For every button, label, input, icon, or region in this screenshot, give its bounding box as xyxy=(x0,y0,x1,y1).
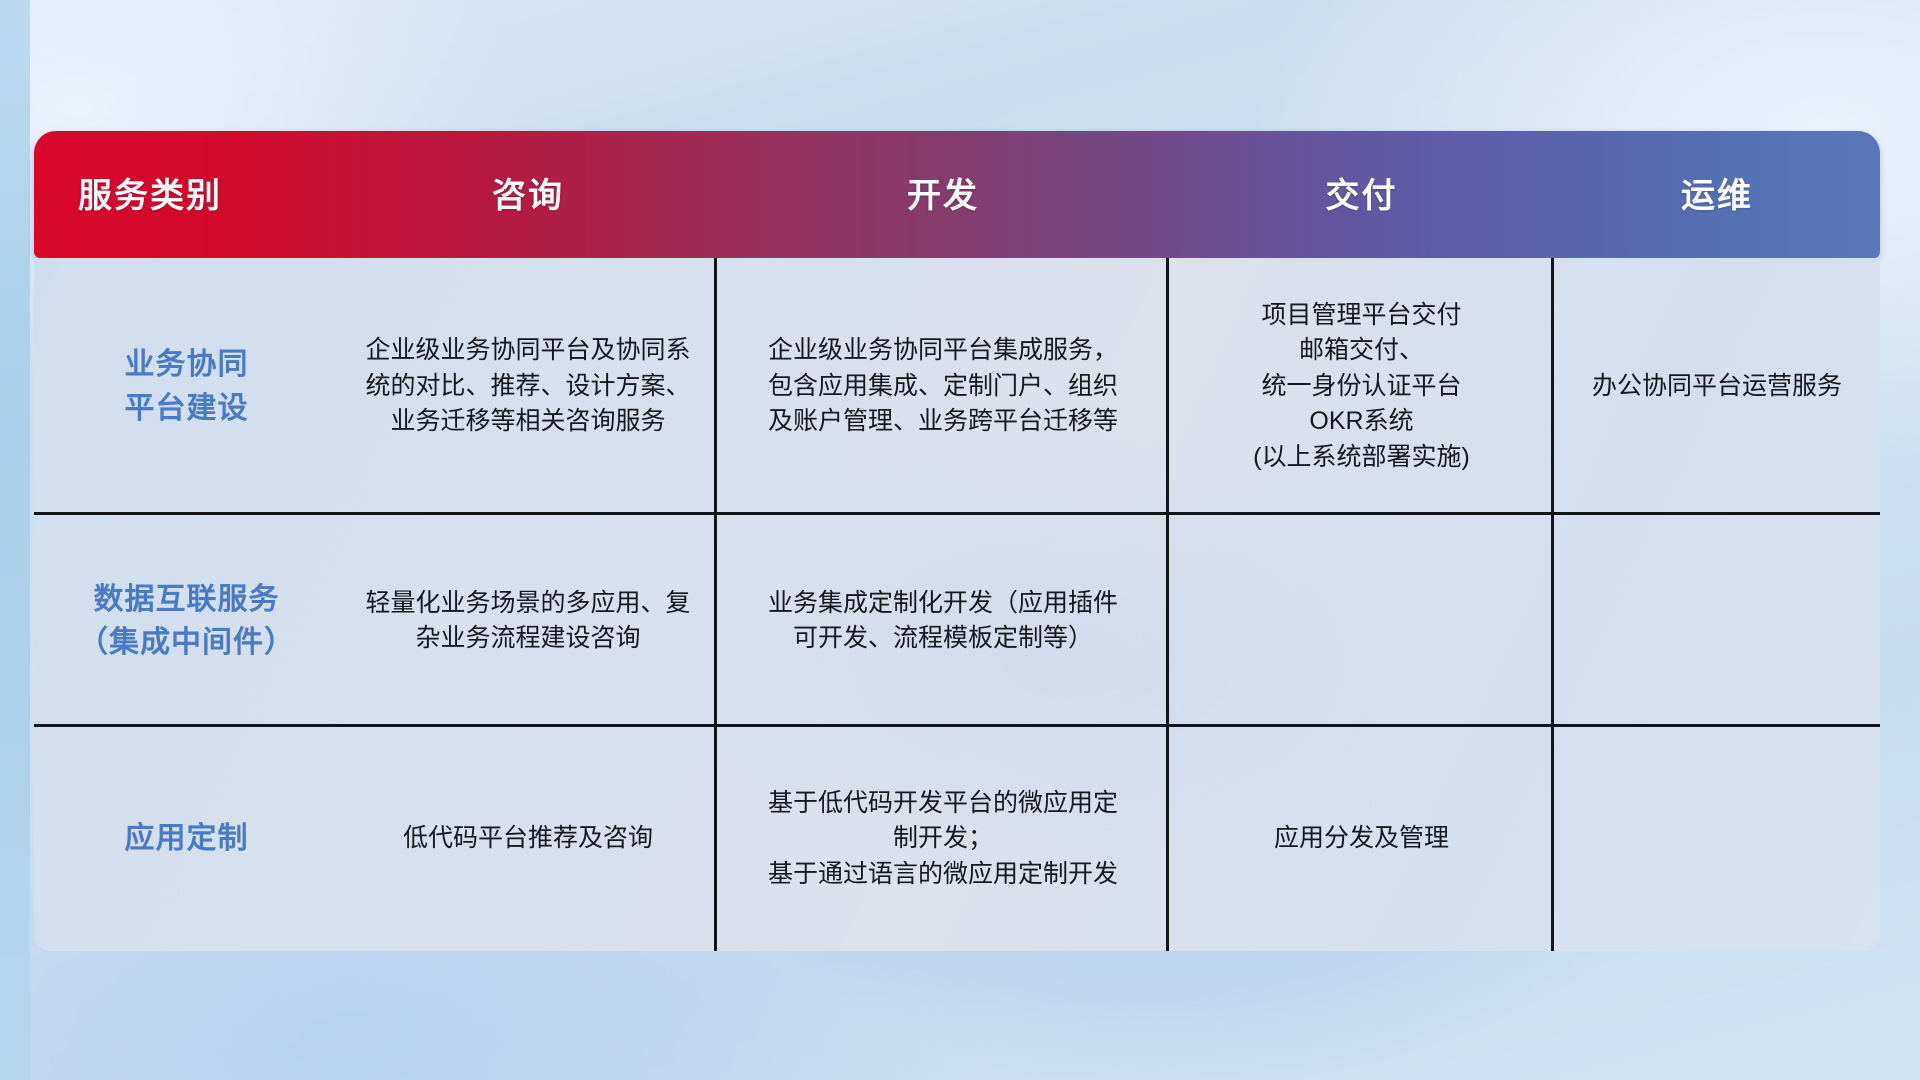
table-header-cell-consulting: 咨询 xyxy=(339,131,717,258)
table-row: 数据互联服务 （集成中间件） 轻量化业务场景的多应用、复 杂业务流程建设咨询 业… xyxy=(34,515,1880,727)
table-cell-development: 企业级业务协同平台集成服务， 包含应用集成、定制门户、组织 及账户管理、业务跨平… xyxy=(717,258,1169,515)
table-cell-delivery: 项目管理平台交付 邮箱交付、 统一身份认证平台 OKR系统 (以上系统部署实施) xyxy=(1169,258,1554,515)
table-header-cell-operations: 运维 xyxy=(1554,131,1880,258)
table-header-cell-delivery: 交付 xyxy=(1169,131,1554,258)
table-cell-operations xyxy=(1554,727,1880,951)
service-matrix-table: 服务类别 咨询 开发 交付 运维 业务协同 平台建设 企业级业务协同平台及协同系… xyxy=(34,131,1880,951)
table-cell-delivery xyxy=(1169,515,1554,727)
table-header-cell-development: 开发 xyxy=(717,131,1169,258)
background-left-edge-accent xyxy=(0,0,30,1080)
table-cell-category: 业务协同 平台建设 xyxy=(34,258,339,515)
table-body: 业务协同 平台建设 企业级业务协同平台及协同系 统的对比、推荐、设计方案、 业务… xyxy=(34,258,1880,951)
table-cell-category: 应用定制 xyxy=(34,727,339,951)
table-header-row: 服务类别 咨询 开发 交付 运维 xyxy=(34,131,1880,258)
table-cell-consulting: 低代码平台推荐及咨询 xyxy=(339,727,717,951)
table-row: 业务协同 平台建设 企业级业务协同平台及协同系 统的对比、推荐、设计方案、 业务… xyxy=(34,258,1880,515)
table-cell-operations xyxy=(1554,515,1880,727)
table-cell-development: 业务集成定制化开发（应用插件 可开发、流程模板定制等） xyxy=(717,515,1169,727)
table-row: 应用定制 低代码平台推荐及咨询 基于低代码开发平台的微应用定 制开发； 基于通过… xyxy=(34,727,1880,951)
table-cell-development: 基于低代码开发平台的微应用定 制开发； 基于通过语言的微应用定制开发 xyxy=(717,727,1169,951)
table-cell-category: 数据互联服务 （集成中间件） xyxy=(34,515,339,727)
table-header-cell-category: 服务类别 xyxy=(34,131,339,258)
table-cell-consulting: 企业级业务协同平台及协同系 统的对比、推荐、设计方案、 业务迁移等相关咨询服务 xyxy=(339,258,717,515)
table-cell-consulting: 轻量化业务场景的多应用、复 杂业务流程建设咨询 xyxy=(339,515,717,727)
table-cell-operations: 办公协同平台运营服务 xyxy=(1554,258,1880,515)
table-cell-delivery: 应用分发及管理 xyxy=(1169,727,1554,951)
